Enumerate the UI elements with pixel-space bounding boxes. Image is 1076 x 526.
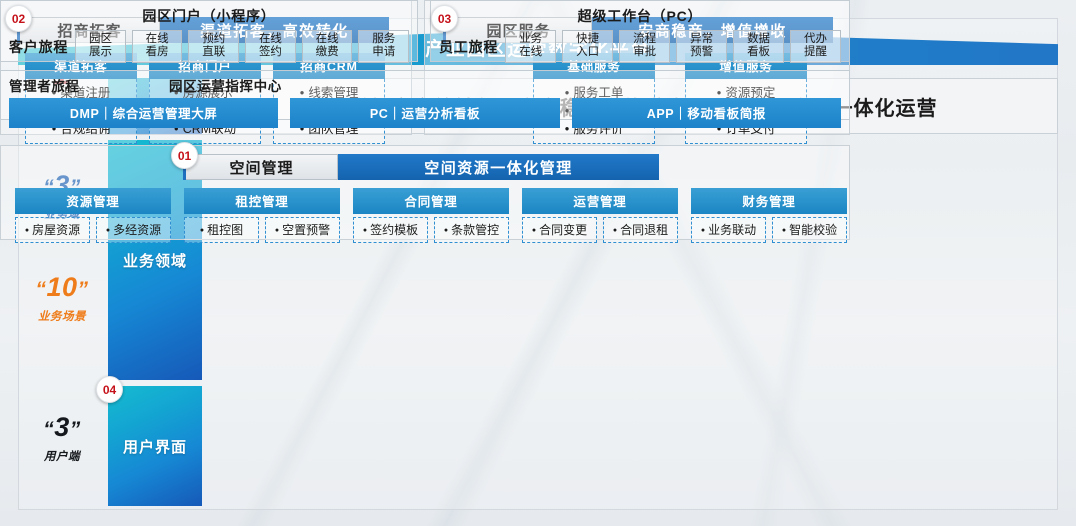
section-01-group-title: 资源管理 xyxy=(15,188,171,214)
park-portal-button[interactable]: 园区展示 xyxy=(75,30,126,63)
park-portal-button-line2: 签约 xyxy=(246,46,295,59)
section-01-group-title: 运营管理 xyxy=(522,188,678,214)
park-portal-button-line1: 预约 xyxy=(189,33,238,46)
section-01-group-title: 财务管理 xyxy=(691,188,847,214)
sidebar-tab-user-interface-label: 用户界面 xyxy=(123,436,187,457)
super-workbench-buttons: 业务在线快捷入口流程审批异常预警数据看板代办提醒 xyxy=(505,30,841,63)
section-01-header: 空间管理 空间资源一体化管理 xyxy=(183,154,662,180)
manager-journey-box: 管理者旅程 园区运营指挥中心 DMP｜综合运营管理大屏PC｜运营分析看板APP｜… xyxy=(0,70,850,120)
section-01-chip[interactable]: 智能校验 xyxy=(772,217,847,243)
park-portal-button-line2: 看房 xyxy=(133,46,182,59)
super-workbench-button-line1: 流程 xyxy=(620,33,669,46)
rail-subtitle: 用户端 xyxy=(20,448,104,464)
infographic-root: 产业园区运营数字化平台 “1”目标“3”业务域“10”业务场景“3”用户端 管理… xyxy=(0,0,1076,526)
super-workbench-button[interactable]: 代办提醒 xyxy=(790,30,841,63)
manager-journey-button[interactable]: APP｜移动看板简报 xyxy=(572,98,841,128)
park-portal-buttons: 园区展示在线看房预约直联在线签约在线缴费服务申请 xyxy=(75,30,409,63)
section-01-chip[interactable]: 租控图 xyxy=(184,217,259,243)
section-01-slogan: 空间资源一体化管理 xyxy=(338,154,659,180)
super-workbench-button-line2: 提醒 xyxy=(791,46,840,59)
super-workbench-button-line1: 快捷 xyxy=(563,33,612,46)
command-center-label: 园区运营指挥中心 xyxy=(169,75,282,95)
park-portal-button-line1: 在线 xyxy=(246,33,295,46)
super-workbench-button[interactable]: 异常预警 xyxy=(676,30,727,63)
super-workbench-button-line2: 入口 xyxy=(563,46,612,59)
super-workbench-button-line1: 代办 xyxy=(791,33,840,46)
super-workbench-button[interactable]: 业务在线 xyxy=(505,30,556,63)
section-01-group[interactable]: 合同管理签约模板条款管控 xyxy=(353,188,509,243)
manager-journey-label: 管理者旅程 xyxy=(9,75,169,95)
section-01-chip[interactable]: 房屋资源 xyxy=(15,217,90,243)
section-01-groups: 资源管理房屋资源多经资源租控管理租控图空置预警合同管理签约模板条款管控运营管理合… xyxy=(15,188,847,243)
park-portal-button[interactable]: 在线缴费 xyxy=(302,30,353,63)
park-portal-button[interactable]: 服务申请 xyxy=(358,30,409,63)
park-portal-button-line2: 直联 xyxy=(189,46,238,59)
section-01-group[interactable]: 运营管理合同变更合同退租 xyxy=(522,188,678,243)
super-workbench-button-line1: 异常 xyxy=(677,33,726,46)
employee-journey-label: 员工旅程 xyxy=(439,37,498,57)
park-portal-button[interactable]: 在线看房 xyxy=(132,30,183,63)
section-01-group-chips: 租控图空置预警 xyxy=(184,217,340,243)
park-portal-button-line1: 在线 xyxy=(303,33,352,46)
badge-04: 04 xyxy=(96,376,123,403)
rail-number: “10” xyxy=(20,274,104,301)
park-portal-button-line1: 服务 xyxy=(359,33,408,46)
section-01-group[interactable]: 资源管理房屋资源多经资源 xyxy=(15,188,171,243)
super-workbench-button[interactable]: 数据看板 xyxy=(733,30,784,63)
super-workbench-button-line1: 业务 xyxy=(506,33,555,46)
badge-02: 02 xyxy=(5,5,32,32)
super-workbench-button-line2: 预警 xyxy=(677,46,726,59)
rail-number: “3” xyxy=(20,414,104,441)
sidebar-tab-business-domain-label: 业务领域 xyxy=(123,250,187,271)
section-01-name: 空间管理 xyxy=(186,154,338,180)
park-portal-box: 园区门户（小程序） 客户旅程 园区展示在线看房预约直联在线签约在线缴费服务申请 xyxy=(0,0,418,62)
section-01-chip[interactable]: 合同退租 xyxy=(603,217,678,243)
sidebar-tab-user-interface[interactable]: 用户界面 04 xyxy=(108,386,202,506)
section-01-chip[interactable]: 条款管控 xyxy=(434,217,509,243)
section-01-group-chips: 房屋资源多经资源 xyxy=(15,217,171,243)
park-portal-title: 园区门户（小程序） xyxy=(1,6,417,26)
section-01-group[interactable]: 租控管理租控图空置预警 xyxy=(184,188,340,243)
manager-journey-buttons: DMP｜综合运营管理大屏PC｜运营分析看板APP｜移动看板简报 xyxy=(1,95,849,128)
super-workbench-title: 超级工作台（PC） xyxy=(431,6,849,26)
super-workbench-button[interactable]: 流程审批 xyxy=(619,30,670,63)
super-workbench-button[interactable]: 快捷入口 xyxy=(562,30,613,63)
section-01-group-chips: 合同变更合同退租 xyxy=(522,217,678,243)
badge-03: 03 xyxy=(431,5,458,32)
park-portal-button[interactable]: 预约直联 xyxy=(188,30,239,63)
section-01-group[interactable]: 财务管理业务联动智能校验 xyxy=(691,188,847,243)
section-01-chip[interactable]: 业务联动 xyxy=(691,217,766,243)
section-01-group-title: 合同管理 xyxy=(353,188,509,214)
badge-01: 01 xyxy=(171,142,198,169)
rail-item-4: “3”用户端 xyxy=(20,414,104,464)
park-portal-button-line2: 申请 xyxy=(359,46,408,59)
customer-journey-label: 客户旅程 xyxy=(9,37,68,57)
super-workbench-button-line2: 在线 xyxy=(506,46,555,59)
section-01-chip[interactable]: 多经资源 xyxy=(96,217,171,243)
super-workbench-button-line2: 看板 xyxy=(734,46,783,59)
park-portal-button-line1: 在线 xyxy=(133,33,182,46)
manager-journey-button[interactable]: PC｜运营分析看板 xyxy=(290,98,559,128)
super-workbench-button-line1: 数据 xyxy=(734,33,783,46)
section-01-group-chips: 业务联动智能校验 xyxy=(691,217,847,243)
section-01-group-title: 租控管理 xyxy=(184,188,340,214)
section-01-box: 01 空间管理 空间资源一体化管理 资源管理房屋资源多经资源租控管理租控图空置预… xyxy=(0,145,850,240)
manager-journey-button[interactable]: DMP｜综合运营管理大屏 xyxy=(9,98,278,128)
section-01-chip[interactable]: 空置预警 xyxy=(265,217,340,243)
section-01-chip[interactable]: 签约模板 xyxy=(353,217,428,243)
section-01-group-chips: 签约模板条款管控 xyxy=(353,217,509,243)
park-portal-button-line1: 园区 xyxy=(76,33,125,46)
section-01-chip[interactable]: 合同变更 xyxy=(522,217,597,243)
rail-subtitle: 业务场景 xyxy=(20,308,104,324)
super-workbench-button-line2: 审批 xyxy=(620,46,669,59)
super-workbench-box: 超级工作台（PC） 员工旅程 业务在线快捷入口流程审批异常预警数据看板代办提醒 xyxy=(430,0,850,62)
rail-item-3: “10”业务场景 xyxy=(20,274,104,324)
park-portal-button-line2: 展示 xyxy=(76,46,125,59)
park-portal-button[interactable]: 在线签约 xyxy=(245,30,296,63)
park-portal-button-line2: 缴费 xyxy=(303,46,352,59)
